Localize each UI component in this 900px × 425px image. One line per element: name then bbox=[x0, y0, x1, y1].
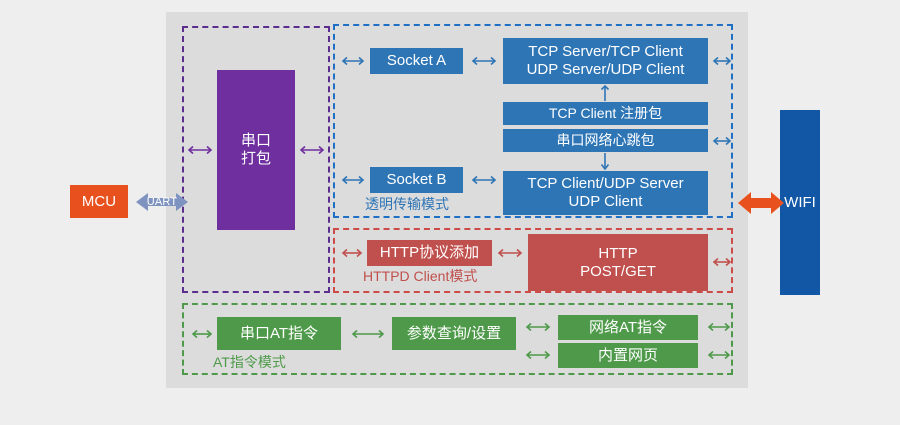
arrow-socket-b-left-icon bbox=[340, 173, 366, 187]
built-in-webpage-block: 内置网页 bbox=[558, 343, 698, 368]
transparent-mode-label: 透明传输模式 bbox=[365, 194, 449, 214]
serial-packing-line1: 串口 bbox=[241, 132, 271, 150]
at-command-mode-label: AT指令模式 bbox=[213, 352, 286, 372]
httpd-client-mode-label: HTTPD Client模式 bbox=[363, 266, 477, 286]
arrow-serial-right-icon bbox=[298, 143, 326, 157]
http-post-get-block: HTTP POST/GET bbox=[528, 234, 708, 291]
parameter-query-set-block: 参数查询/设置 bbox=[392, 317, 516, 350]
arrow-socket-b-right-icon bbox=[470, 173, 498, 187]
serial-network-heartbeat-block: 串口网络心跳包 bbox=[503, 129, 708, 152]
arrow-at-left-icon bbox=[190, 327, 214, 341]
wifi-arrow-icon bbox=[738, 190, 784, 216]
serial-packing-block: 串口 打包 bbox=[217, 70, 295, 230]
serial-at-command-block: 串口AT指令 bbox=[217, 317, 341, 350]
arrow-http-left-icon bbox=[340, 246, 364, 260]
arrow-http-right-icon bbox=[712, 255, 732, 269]
http-post-get-line2: POST/GET bbox=[580, 263, 656, 281]
arrow-serial-left-icon bbox=[186, 143, 214, 157]
tcp-server-line2: UDP Server/UDP Client bbox=[527, 61, 685, 79]
arrow-param-to-webpage-icon bbox=[524, 348, 552, 362]
socket-b-block: Socket B bbox=[370, 167, 463, 193]
tcp-client-register-packet-block: TCP Client 注册包 bbox=[503, 102, 708, 125]
arrow-heartbeat-down-icon bbox=[598, 152, 612, 171]
arrow-register-up-icon bbox=[598, 84, 612, 102]
socket-a-block: Socket A bbox=[370, 48, 463, 74]
arrow-heartbeat-right-icon bbox=[712, 134, 732, 148]
arrow-http-middle-icon bbox=[496, 246, 524, 260]
arrow-param-to-network-at-icon bbox=[524, 320, 552, 334]
tcp-client-line1: TCP Client/UDP Server bbox=[527, 175, 683, 193]
arrow-socket-a-right-icon bbox=[470, 54, 498, 68]
tcp-client-udp-block: TCP Client/UDP Server UDP Client bbox=[503, 171, 708, 215]
http-post-get-line1: HTTP bbox=[580, 245, 656, 263]
serial-packing-line2: 打包 bbox=[241, 150, 271, 168]
mcu-block: MCU bbox=[70, 185, 128, 218]
http-protocol-add-block: HTTP协议添加 bbox=[367, 240, 492, 266]
tcp-server-line1: TCP Server/TCP Client bbox=[527, 43, 685, 61]
wifi-block: WIFI bbox=[780, 110, 820, 295]
network-at-command-block: 网络AT指令 bbox=[558, 315, 698, 340]
arrow-tcp-server-right-icon bbox=[712, 54, 732, 68]
uart-label: UART bbox=[136, 190, 188, 214]
arrow-at-serial-to-param-icon bbox=[350, 327, 386, 341]
arrow-network-at-right-icon bbox=[706, 320, 732, 334]
tcp-client-line2: UDP Client bbox=[527, 193, 683, 211]
arrow-webpage-right-icon bbox=[706, 348, 732, 362]
arrow-socket-a-left-icon bbox=[340, 54, 366, 68]
tcp-server-client-block: TCP Server/TCP Client UDP Server/UDP Cli… bbox=[503, 38, 708, 84]
